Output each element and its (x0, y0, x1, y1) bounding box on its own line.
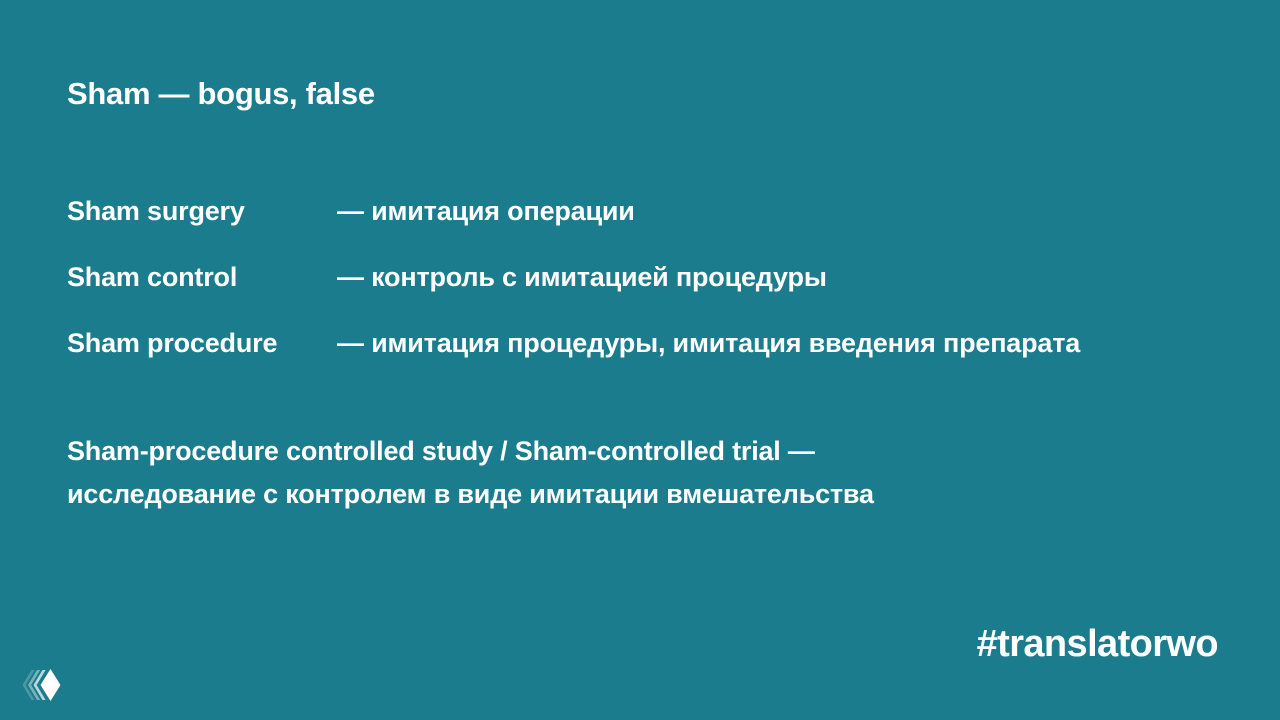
page-title: Sham — bogus, false (67, 76, 375, 112)
term-definition: — имитация операции (337, 196, 635, 227)
list-item: Sham procedure — имитация процедуры, ими… (67, 328, 1257, 359)
closing-paragraph: Sham-procedure controlled study / Sham-c… (67, 430, 1247, 516)
layered-diamond-logo-icon (18, 662, 64, 708)
term-label: Sham surgery (67, 196, 337, 227)
closing-paragraph-line-2: исследование с контролем в виде имитации… (67, 473, 1247, 516)
term-definition: — контроль с имитацией процедуры (337, 262, 827, 293)
term-definition-list: Sham surgery — имитация операции Sham co… (67, 196, 1257, 359)
list-item: Sham surgery — имитация операции (67, 196, 1257, 227)
term-label: Sham procedure (67, 328, 337, 359)
term-label: Sham control (67, 262, 337, 293)
list-item: Sham control — контроль с имитацией проц… (67, 262, 1257, 293)
hashtag-watermark: #translatorwo (977, 623, 1218, 666)
presentation-slide: Sham — bogus, false Sham surgery — имита… (0, 0, 1280, 720)
closing-paragraph-line-1: Sham-procedure controlled study / Sham-c… (67, 430, 1247, 473)
term-definition: — имитация процедуры, имитация введения … (337, 328, 1080, 359)
